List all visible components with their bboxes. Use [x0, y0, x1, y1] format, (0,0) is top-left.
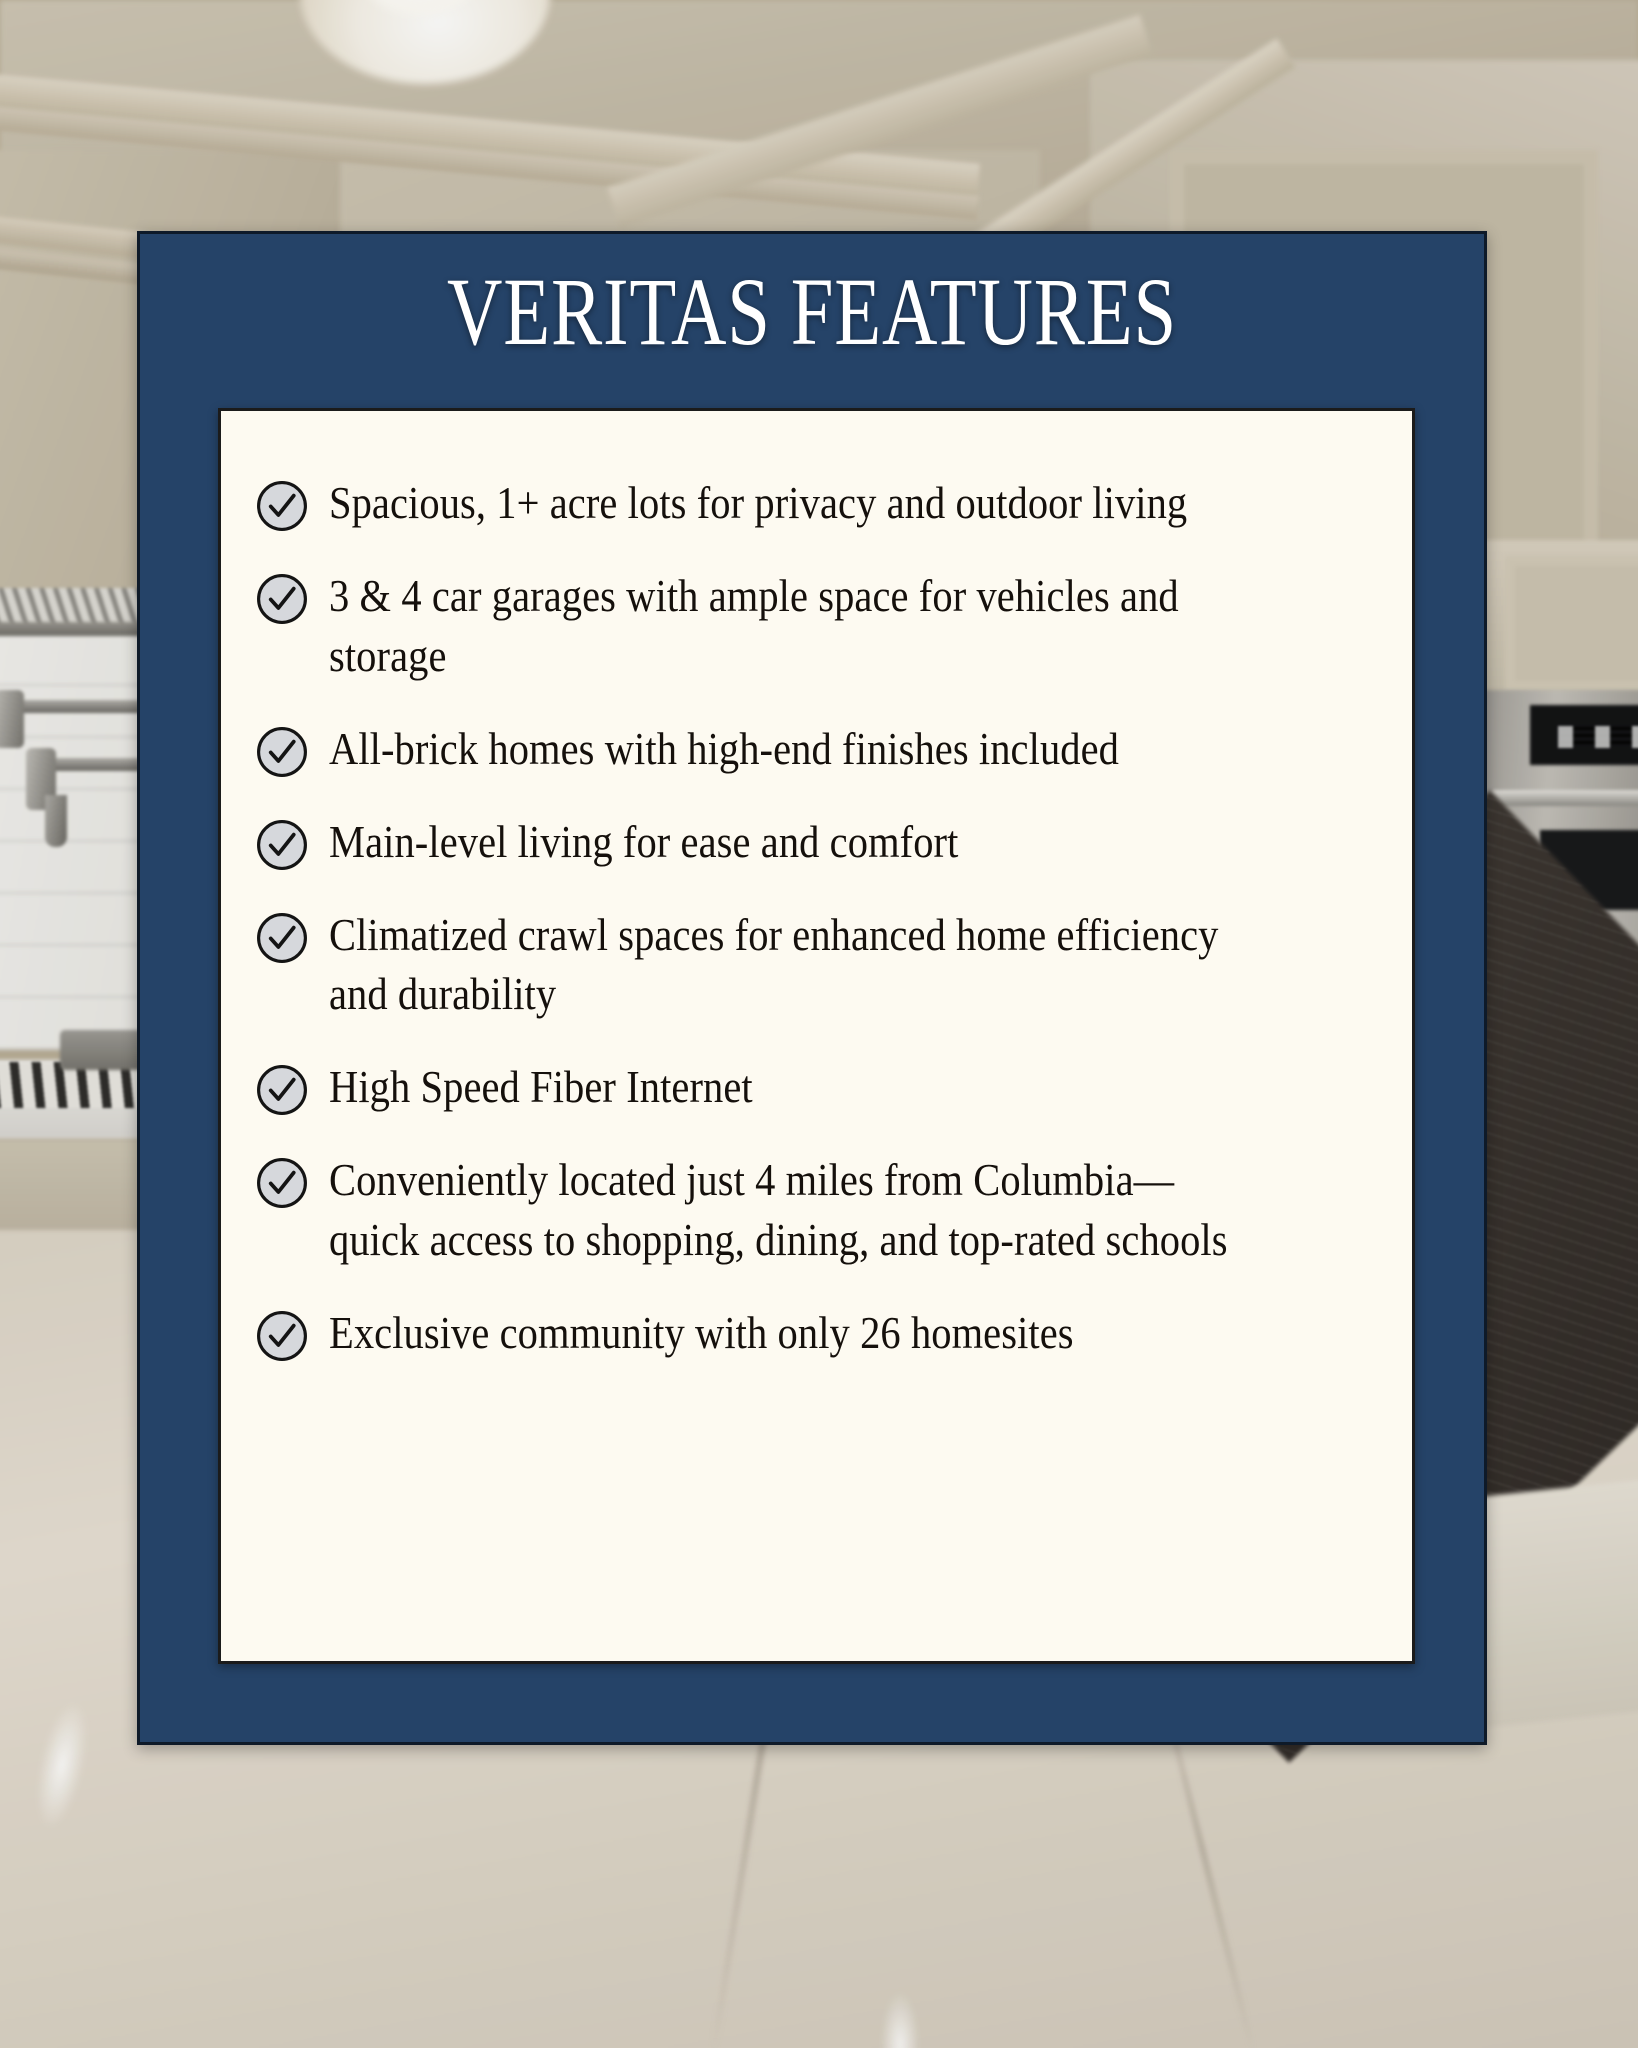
- poster-canvas: VERITAS FEATURES Spacious, 1+ acre lots …: [0, 0, 1638, 2048]
- list-item-label: 3 & 4 car garages with ample space for v…: [329, 566, 1252, 686]
- check-circle-icon: [255, 479, 309, 533]
- check-circle-icon: [255, 572, 309, 626]
- check-circle-icon: [255, 1063, 309, 1117]
- list-item: All-brick homes with high-end finishes i…: [255, 719, 1378, 779]
- list-item-label: Main-level living for ease and comfort: [329, 812, 1252, 872]
- features-card: Spacious, 1+ acre lots for privacy and o…: [218, 408, 1415, 1664]
- list-item: 3 & 4 car garages with ample space for v…: [255, 566, 1378, 686]
- check-circle-icon: [255, 1309, 309, 1363]
- check-circle-icon: [255, 1156, 309, 1210]
- list-item: High Speed Fiber Internet: [255, 1057, 1378, 1117]
- check-circle-icon: [255, 725, 309, 779]
- list-item-label: High Speed Fiber Internet: [329, 1057, 1252, 1117]
- list-item-label: All-brick homes with high-end finishes i…: [329, 719, 1252, 779]
- page-title: VERITAS FEATURES: [274, 264, 1349, 360]
- check-circle-icon: [255, 911, 309, 965]
- list-item: Main-level living for ease and comfort: [255, 812, 1378, 872]
- features-panel: VERITAS FEATURES Spacious, 1+ acre lots …: [137, 231, 1487, 1745]
- list-item: Conveniently located just 4 miles from C…: [255, 1150, 1378, 1270]
- check-circle-icon: [255, 818, 309, 872]
- list-item: Exclusive community with only 26 homesit…: [255, 1303, 1378, 1363]
- list-item: Climatized crawl spaces for enhanced hom…: [255, 905, 1378, 1025]
- list-item-label: Conveniently located just 4 miles from C…: [329, 1150, 1252, 1270]
- list-item-label: Climatized crawl spaces for enhanced hom…: [329, 905, 1252, 1025]
- list-item: Spacious, 1+ acre lots for privacy and o…: [255, 473, 1378, 533]
- list-item-label: Spacious, 1+ acre lots for privacy and o…: [329, 473, 1252, 533]
- list-item-label: Exclusive community with only 26 homesit…: [329, 1303, 1252, 1363]
- features-list: Spacious, 1+ acre lots for privacy and o…: [255, 473, 1378, 1363]
